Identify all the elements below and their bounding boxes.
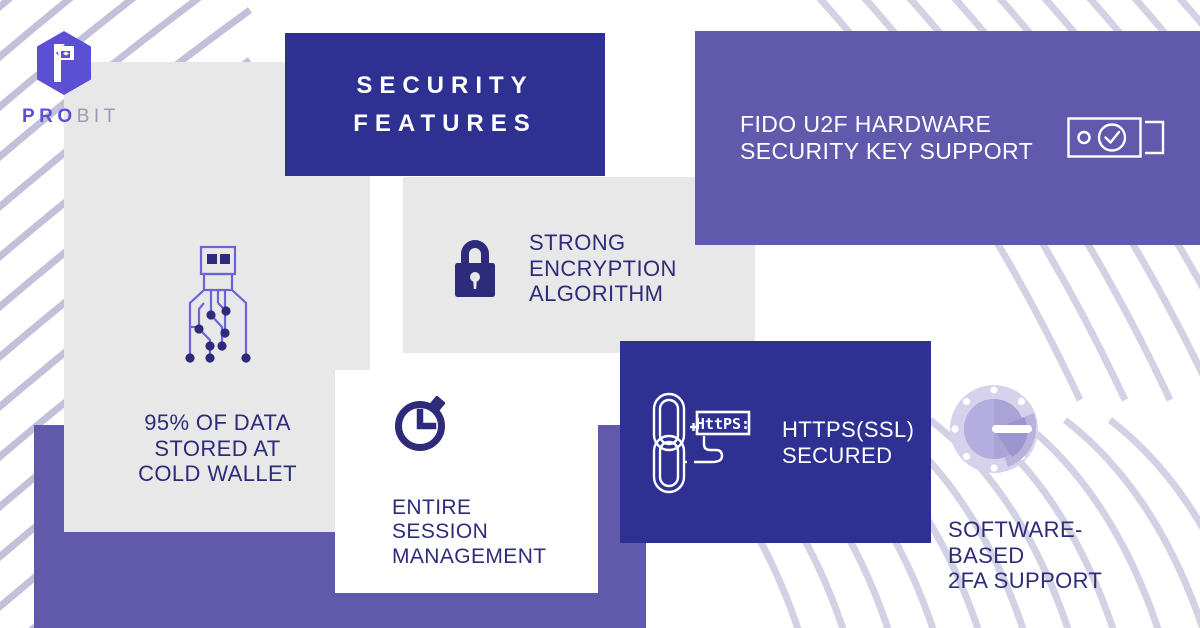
title-line-1: SECURITY (356, 67, 533, 104)
page-title: SECURITY FEATURES (285, 33, 605, 176)
https-icon-text: HttPS: (696, 415, 750, 433)
security-key-icon (1067, 110, 1167, 166)
brand-wordmark: PROBIT (22, 106, 152, 128)
feature-cold-wallet-label: 95% OF DATA STORED AT COLD WALLET (138, 410, 297, 487)
infographic-canvas: PROBIT SECURITY FEATURES FIDO U2F HARDWA… (0, 0, 1200, 628)
probit-hexagon-logo-icon (34, 30, 94, 96)
authenticator-vault-icon (948, 383, 1040, 475)
title-line-2: FEATURES (353, 105, 537, 142)
feature-strong-encryption: STRONG ENCRYPTION ALGORITHM (447, 230, 747, 307)
chain-link-https-icon: HttPS: (648, 390, 758, 496)
brand-name-bold: PRO (22, 106, 77, 127)
feature-cold-wallet: 95% OF DATA STORED AT COLD WALLET (80, 245, 355, 487)
feature-fido-u2f: FIDO U2F HARDWARE SECURITY KEY SUPPORT (740, 110, 1170, 166)
stopwatch-icon (392, 392, 454, 454)
feature-https-ssl: HttPS: HTTPS(SSL) SECURED (648, 390, 918, 496)
feature-fido-u2f-label: FIDO U2F HARDWARE SECURITY KEY SUPPORT (740, 111, 1033, 164)
feature-software-2fa: SOFTWARE- BASED 2FA SUPPORT (948, 383, 1148, 594)
feature-https-ssl-label: HTTPS(SSL) SECURED (782, 417, 914, 468)
brand-logo[interactable]: PROBIT (22, 30, 152, 128)
brand-name-light: BIT (77, 106, 120, 127)
feature-strong-encryption-label: STRONG ENCRYPTION ALGORITHM (529, 230, 677, 307)
feature-session-management: ENTIRE SESSION MANAGEMENT (392, 392, 592, 569)
usb-circuit-icon (170, 245, 266, 370)
feature-session-management-label: ENTIRE SESSION MANAGEMENT (392, 496, 592, 569)
padlock-icon (447, 237, 503, 299)
feature-software-2fa-label: SOFTWARE- BASED 2FA SUPPORT (948, 517, 1148, 594)
